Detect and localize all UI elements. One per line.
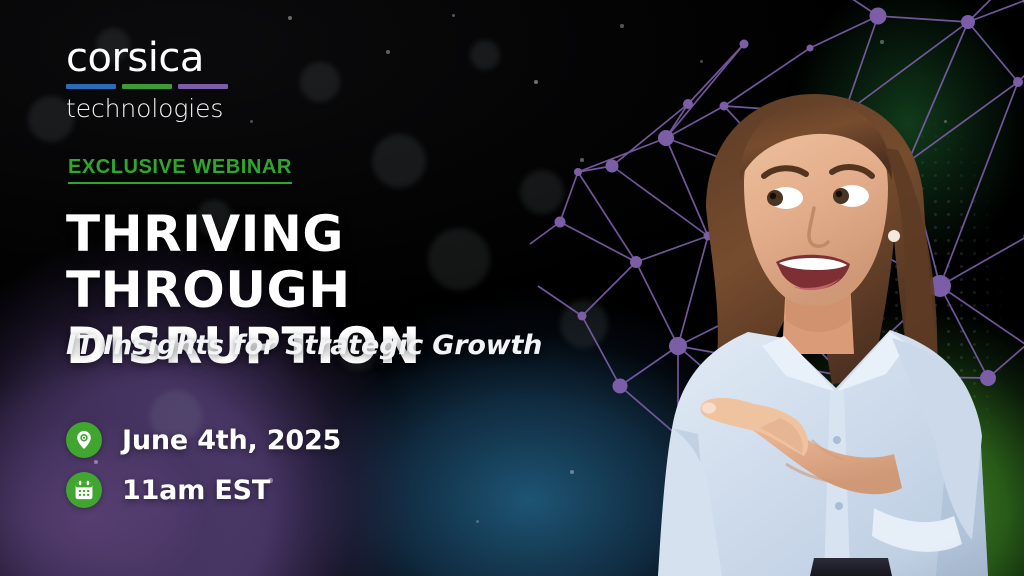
corsica-technologies-logo[interactable]: corsica technologies bbox=[66, 38, 246, 121]
event-time-label: 11am EST bbox=[122, 477, 270, 504]
logo-color-bars bbox=[66, 84, 246, 89]
event-date-label: June 4th, 2025 bbox=[122, 427, 341, 454]
event-detail-date: June 4th, 2025 bbox=[66, 418, 341, 462]
webinar-promo-banner: corsica technologies EXCLUSIVE WEBINAR T… bbox=[0, 0, 1024, 576]
event-details: June 4th, 2025 bbox=[66, 418, 341, 518]
calendar-icon bbox=[66, 472, 102, 508]
logo-bar-blue bbox=[66, 84, 116, 89]
logo-subtext: technologies bbox=[66, 96, 246, 121]
headline-line-1: THRIVING THROUGH bbox=[66, 205, 351, 319]
location-pin-icon bbox=[66, 422, 102, 458]
logo-bar-purple bbox=[178, 84, 228, 89]
subheadline: IT Insights for Strategic Growth bbox=[66, 330, 586, 362]
presenter-photo bbox=[636, 88, 1024, 576]
eyebrow-label: EXCLUSIVE WEBINAR bbox=[68, 156, 292, 184]
event-detail-time: 11am EST bbox=[66, 468, 341, 512]
logo-wordmark: corsica bbox=[66, 38, 246, 78]
logo-bar-green bbox=[122, 84, 172, 89]
